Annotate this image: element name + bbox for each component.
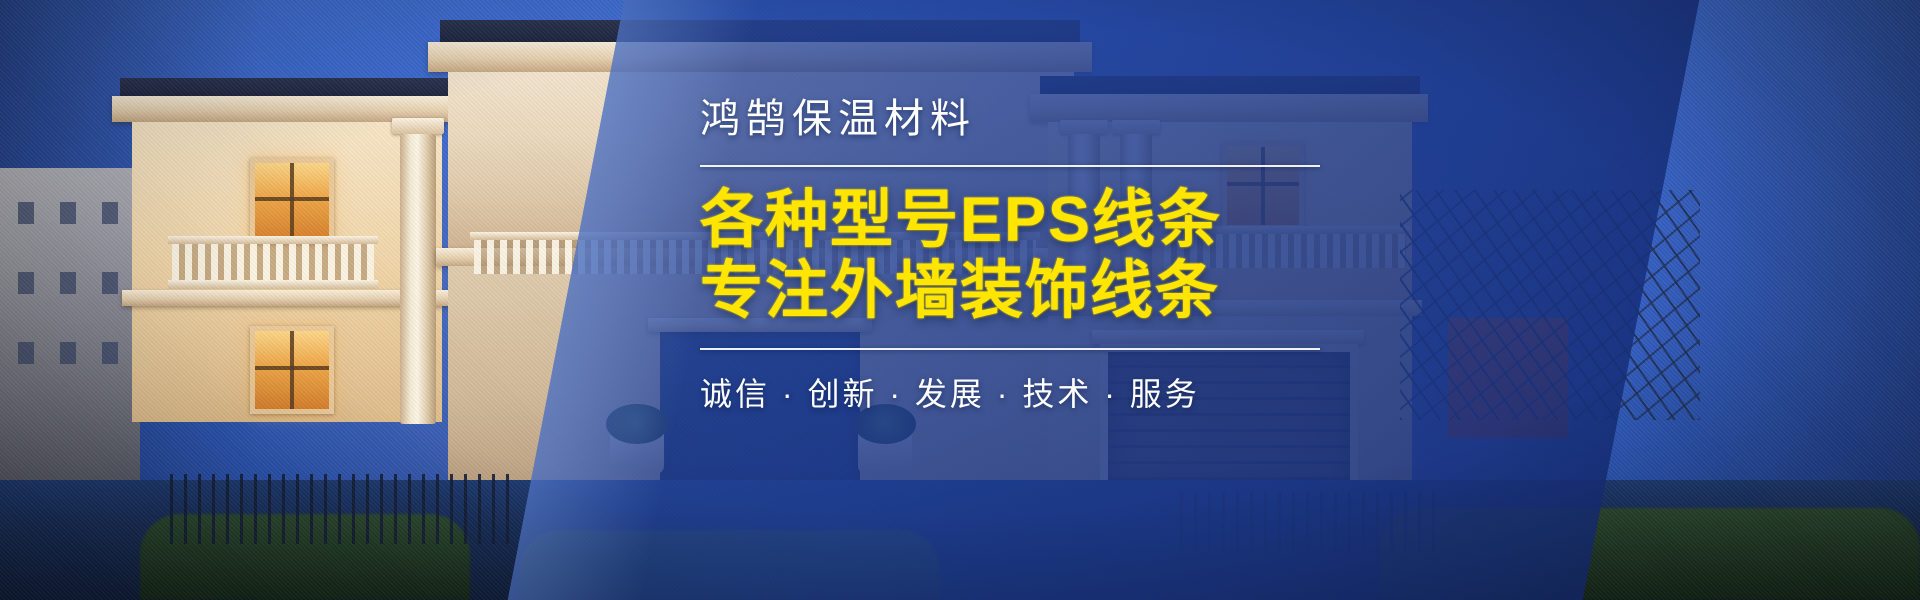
- left-balcony-rail-top: [168, 236, 378, 244]
- center-cornice-top: [428, 42, 1092, 72]
- headline-line-1: 各种型号EPS线条: [700, 185, 1320, 256]
- left-window-upper: [255, 163, 329, 239]
- background-building-left: [0, 168, 140, 498]
- headline-line-2: 专注外墙装饰线条: [700, 256, 1320, 327]
- divider-bottom: [700, 348, 1320, 350]
- left-balcony-balustrade: [172, 244, 374, 280]
- hedge-center: [520, 530, 940, 600]
- brand-name: 鸿鹄保温材料: [700, 94, 1320, 144]
- divider-top: [700, 165, 1320, 167]
- foreground-fence: [170, 474, 510, 544]
- left-window-lower: [255, 331, 329, 409]
- left-balcony-base: [168, 280, 378, 289]
- portico-column-1: [400, 134, 436, 424]
- hero-banner: 鸿鹄保温材料 各种型号EPS线条 专注外墙装饰线条 诚信 · 创新 · 发展 ·…: [0, 0, 1920, 600]
- tree-branches-right: [1400, 190, 1700, 420]
- foreground-fence-right: [1180, 492, 1440, 552]
- hedge-right: [1380, 508, 1920, 600]
- banner-text-block: 鸿鹄保温材料 各种型号EPS线条 专注外墙装饰线条 诚信 · 创新 · 发展 ·…: [700, 94, 1320, 415]
- portico-capital-1: [392, 118, 444, 134]
- tagline: 诚信 · 创新 · 发展 · 技术 · 服务: [700, 369, 1320, 415]
- shrub-left: [606, 404, 668, 444]
